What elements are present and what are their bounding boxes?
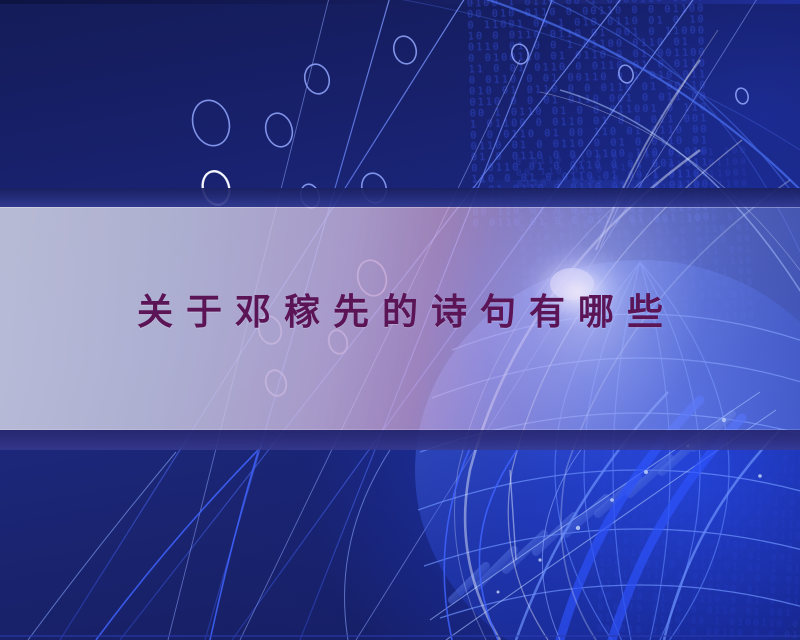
slide-canvas: 0100 1 0110 00 1 0100110 01 0 00 010 011…	[0, 0, 800, 640]
banner-bottom-edge	[0, 430, 800, 450]
banner-top-edge	[0, 188, 800, 207]
page-title: 关于邓稼先的诗句有哪些	[0, 290, 800, 336]
